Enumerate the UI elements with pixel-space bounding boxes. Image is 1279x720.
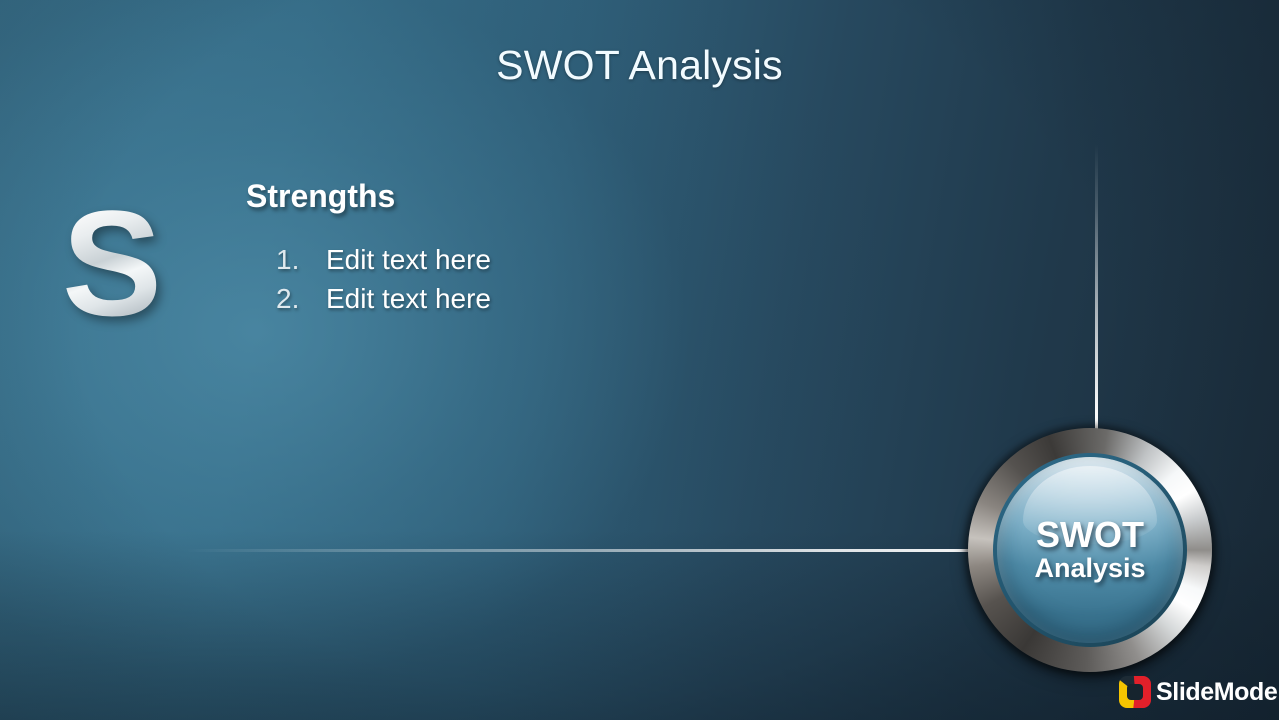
list-item[interactable]: 2. Edit text here [276, 283, 491, 322]
list-item[interactable]: 1. Edit text here [276, 244, 491, 283]
section-heading-strengths: Strengths [246, 178, 395, 215]
badge-subtitle: Analysis [1034, 553, 1145, 584]
list-item-number: 2. [276, 283, 326, 315]
list-item-number: 1. [276, 244, 326, 276]
badge-title: SWOT [1036, 516, 1144, 553]
horizontal-connector-line [186, 549, 1016, 552]
slidemodel-logo-icon [1119, 676, 1151, 708]
list-item-text[interactable]: Edit text here [326, 244, 491, 276]
vertical-connector-line [1095, 144, 1098, 429]
badge-face: SWOT Analysis [997, 457, 1183, 643]
swot-badge[interactable]: SWOT Analysis [964, 424, 1216, 676]
slidemodel-logo-text: SlideModel [1156, 678, 1279, 707]
page-title: SWOT Analysis [0, 42, 1279, 89]
slidemodel-logo[interactable]: SlideModel .com [1119, 676, 1279, 708]
section-letter-s: S [62, 188, 162, 338]
strengths-list: 1. Edit text here 2. Edit text here [276, 244, 491, 322]
list-item-text[interactable]: Edit text here [326, 283, 491, 315]
swot-analysis-slide: SWOT Analysis S Strengths 1. Edit text h… [0, 0, 1279, 720]
